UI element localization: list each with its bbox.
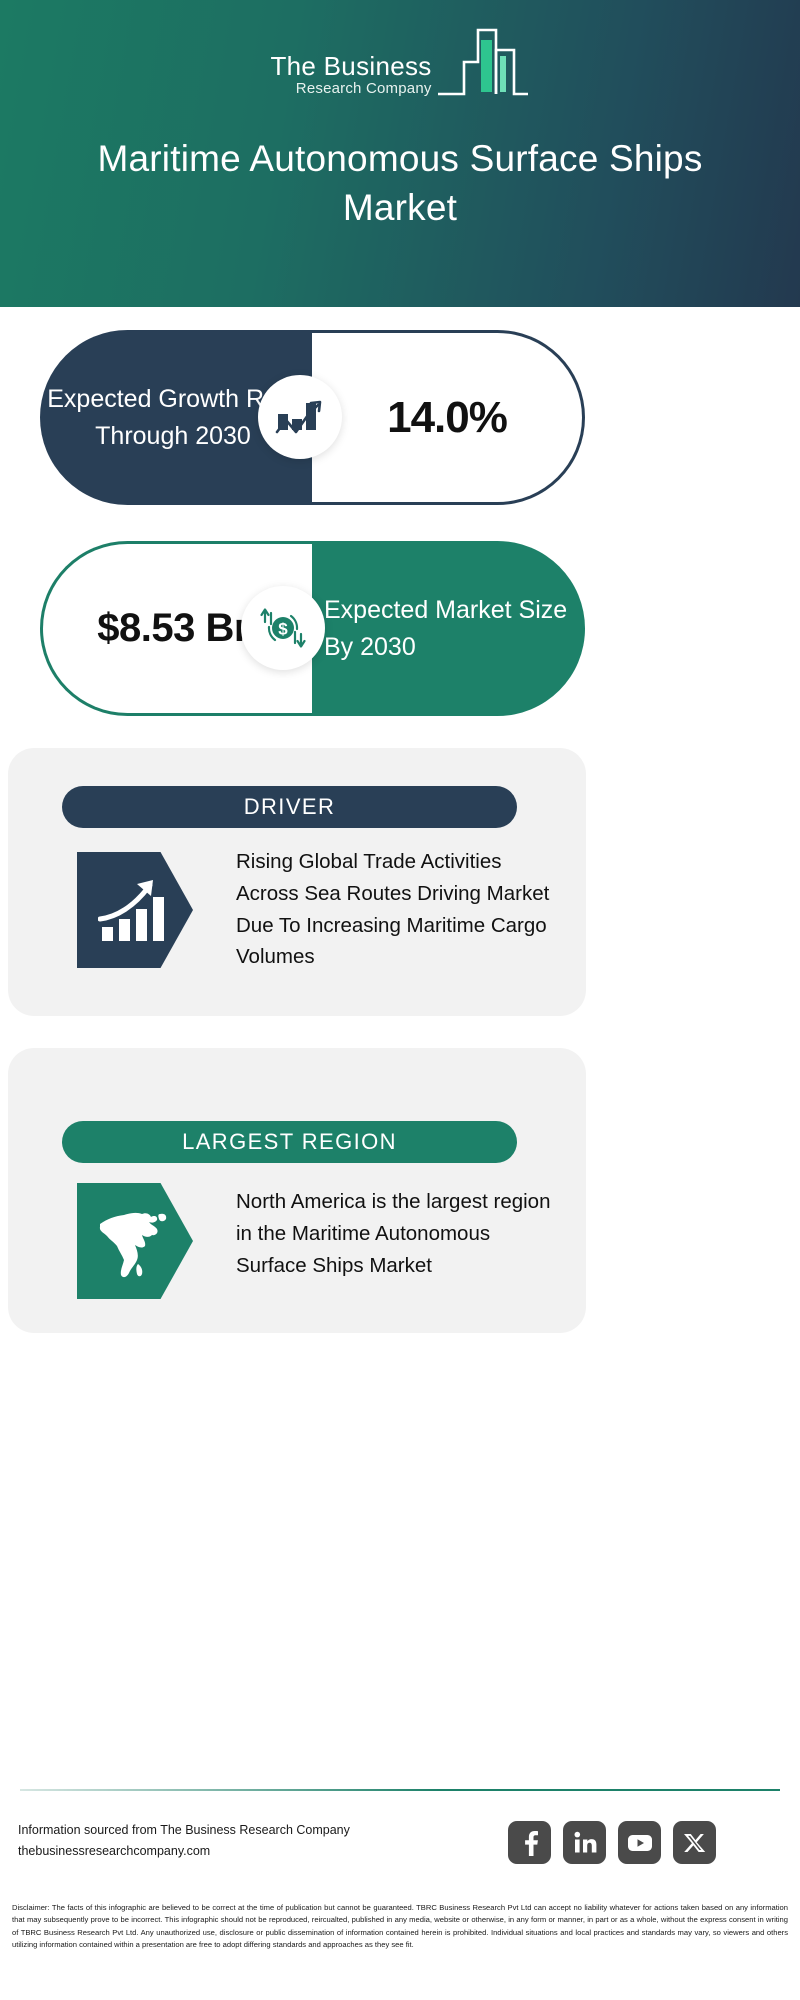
footer-divider <box>20 1789 780 1791</box>
source-attribution: Information sourced from The Business Re… <box>18 1820 350 1863</box>
facebook-icon[interactable] <box>508 1821 551 1864</box>
growth-value-panel: 14.0% <box>312 330 585 505</box>
market-size-label: Expected Market Size By 2030 <box>312 592 585 665</box>
source-line-1: Information sourced from The Business Re… <box>18 1820 350 1841</box>
svg-text:$: $ <box>278 620 288 639</box>
logo-secondary-text: Research Company <box>270 80 431 99</box>
dollar-circular-arrows-icon: $ <box>241 586 325 670</box>
largest-region-pill-label: LARGEST REGION <box>182 1129 397 1155</box>
growth-chart-arrow-icon <box>258 375 342 459</box>
disclaimer-text: Disclaimer: The facts of this infographi… <box>12 1902 788 1951</box>
driver-pill-label: DRIVER <box>244 794 336 820</box>
source-website[interactable]: thebusinessresearchcompany.com <box>18 1841 350 1862</box>
driver-text: Rising Global Trade Activities Across Se… <box>236 846 556 973</box>
social-links <box>508 1821 716 1864</box>
company-logo: The Business Research Company <box>0 24 800 103</box>
logo-text-block: The Business Research Company <box>270 53 431 103</box>
market-size-label-panel: Expected Market Size By 2030 <box>312 541 585 716</box>
growth-value: 14.0% <box>387 393 507 443</box>
youtube-icon[interactable] <box>618 1821 661 1864</box>
driver-pill: DRIVER <box>62 786 517 828</box>
page-title: Maritime Autonomous Surface Ships Market <box>0 135 800 233</box>
infographic-page: The Business Research Company Maritime A… <box>0 0 800 2000</box>
header-banner: The Business Research Company Maritime A… <box>0 0 800 307</box>
largest-region-text: North America is the largest region in t… <box>236 1186 556 1281</box>
market-size-value: $8.53 Bn <box>97 601 258 656</box>
bar-chart-logo-mark-icon <box>434 24 530 103</box>
linkedin-icon[interactable] <box>563 1821 606 1864</box>
logo-primary-text: The Business <box>270 53 431 80</box>
largest-region-pill: LARGEST REGION <box>62 1121 517 1163</box>
x-twitter-icon[interactable] <box>673 1821 716 1864</box>
